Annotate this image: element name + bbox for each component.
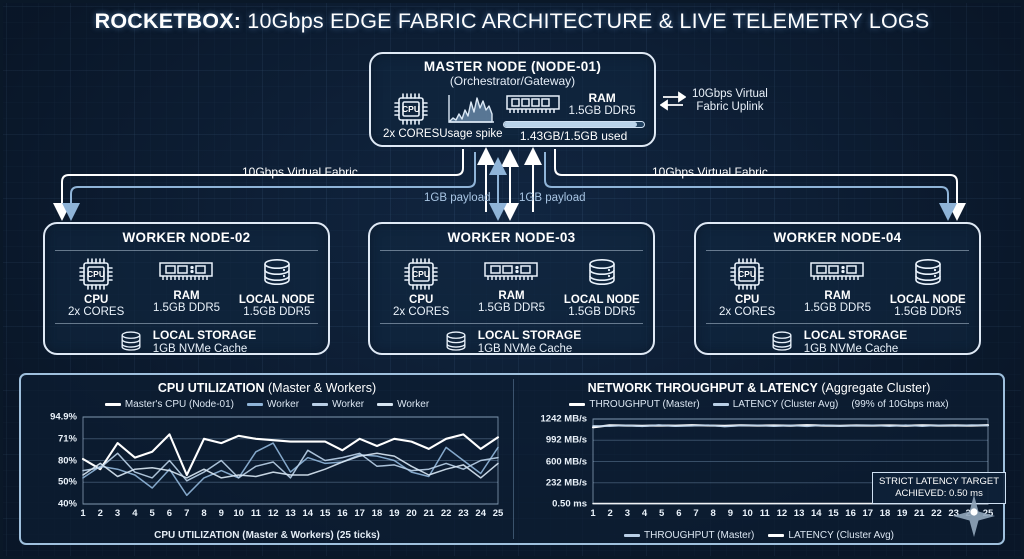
page-root: ROCKETBOX: 10Gbps EDGE FABRIC ARCHITECTU… (0, 0, 1024, 559)
outer-frame (0, 0, 1024, 559)
